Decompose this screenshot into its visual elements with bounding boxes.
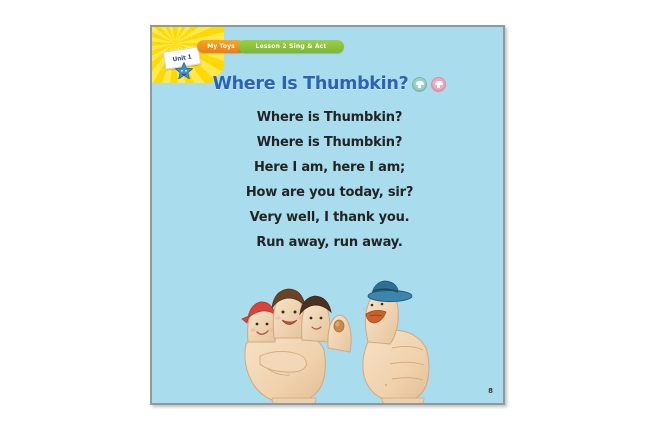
left-hand	[242, 289, 351, 404]
page-number: 8	[488, 387, 493, 395]
tab-unit-topic-label: My Toys	[207, 43, 235, 50]
finger-red-bandana	[242, 302, 275, 342]
page-title: Where Is Thumbkin?	[213, 74, 409, 94]
lyric-line: Run away, run away.	[256, 230, 402, 255]
listen-badge-icon[interactable]	[412, 77, 427, 92]
textbook-page: Unit 1 My Toys Lesson 2 Sing & Act Where…	[150, 25, 505, 405]
sing-badge-icon[interactable]	[431, 77, 446, 92]
song-title-row: Where Is Thumbkin?	[152, 74, 505, 94]
lyric-line: How are you today, sir?	[246, 180, 413, 205]
finger-puppet-hands-illustration	[220, 272, 440, 404]
lyric-line: Here I am, here I am;	[254, 155, 405, 180]
lyrics-block: Where is Thumbkin? Where is Thumbkin? He…	[152, 105, 505, 255]
right-hand	[363, 281, 429, 404]
finger-dark-hair	[300, 296, 331, 342]
tab-lesson[interactable]: Lesson 2 Sing & Act	[238, 40, 344, 53]
finger-plain	[328, 315, 351, 352]
tab-lesson-label: Lesson 2 Sing & Act	[255, 43, 326, 50]
lyric-line: Where is Thumbkin?	[257, 105, 402, 130]
lyric-line: Very well, I thank you.	[250, 205, 410, 230]
screenshot-canvas: Unit 1 My Toys Lesson 2 Sing & Act Where…	[0, 0, 650, 433]
lyric-line: Where is Thumbkin?	[257, 130, 402, 155]
